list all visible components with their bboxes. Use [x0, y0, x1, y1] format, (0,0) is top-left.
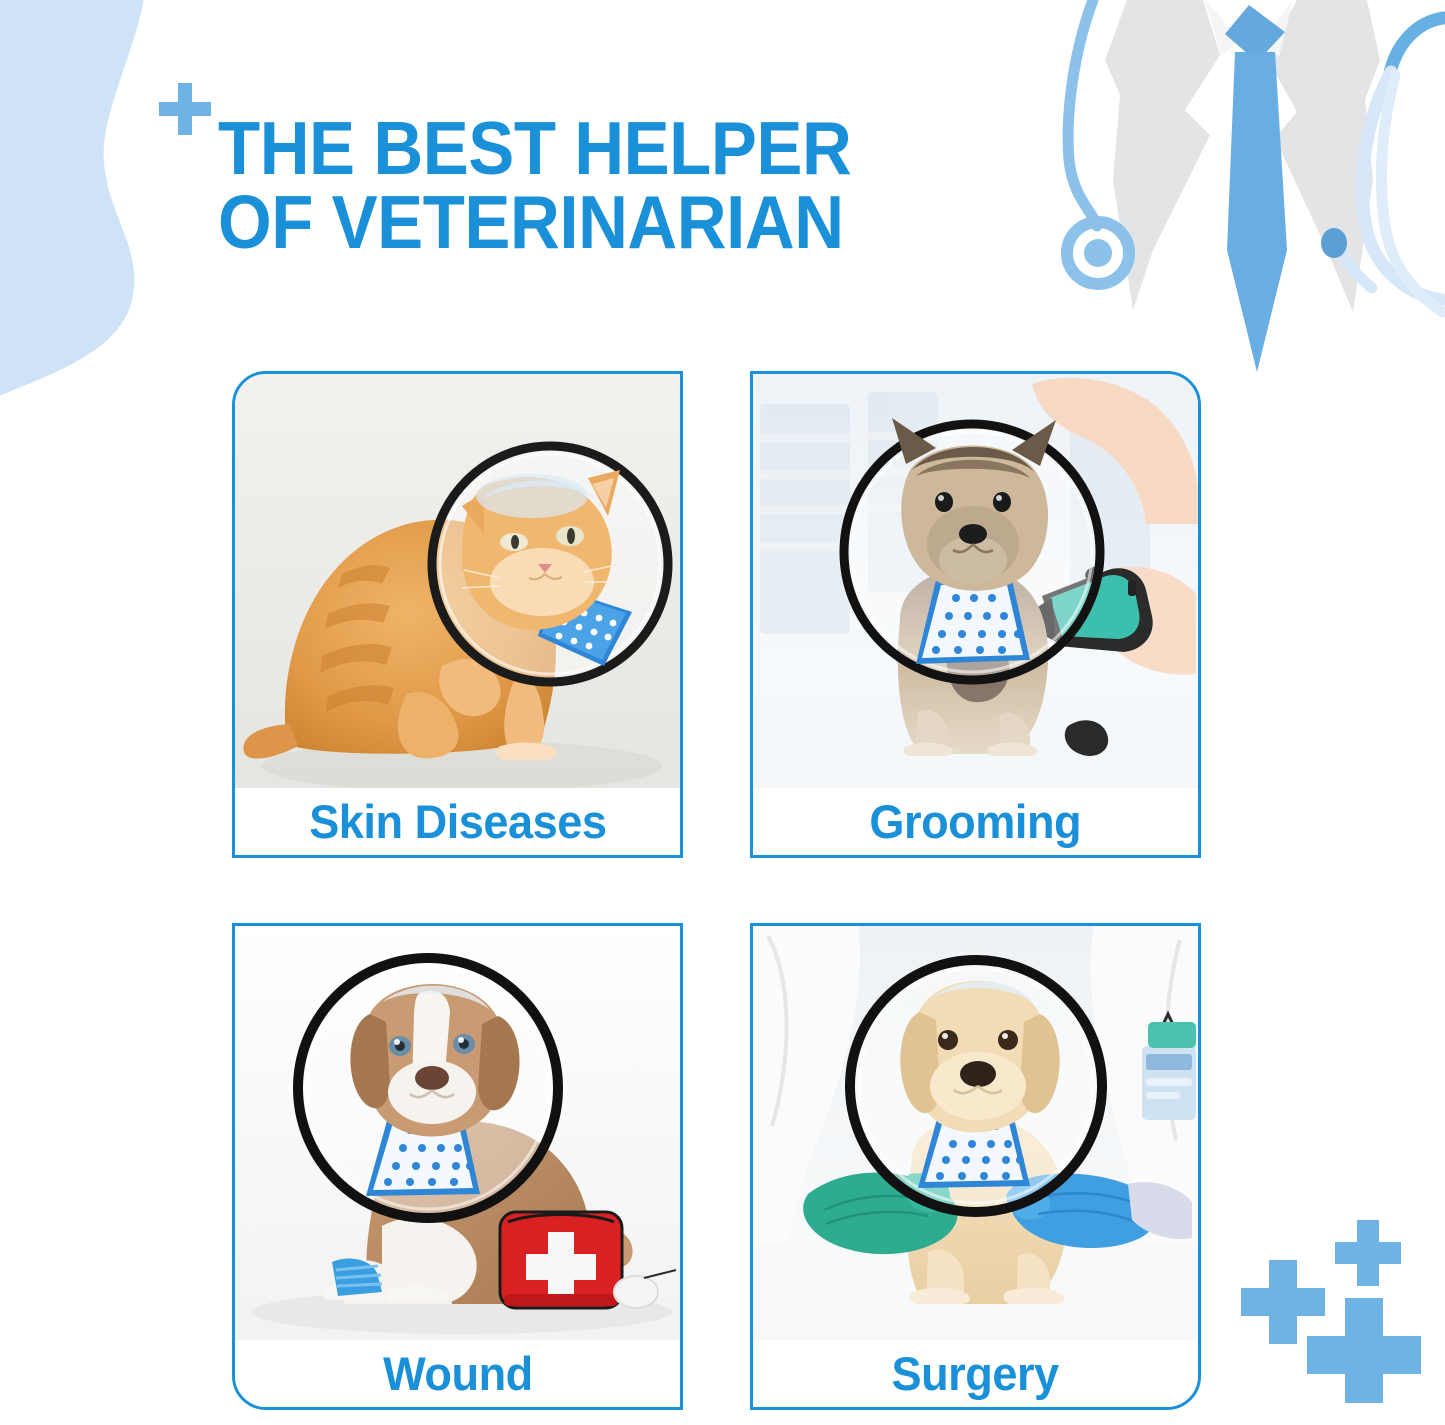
card-label-surgery: Surgery [892, 1346, 1059, 1401]
title-line-2: OF VETERINARIAN [218, 186, 1009, 260]
feature-card-grid: Skin Diseases [232, 371, 1210, 1408]
photo-grooming [753, 374, 1198, 788]
card-caption: Surgery [753, 1340, 1198, 1407]
card-label-skin-diseases: Skin Diseases [309, 794, 606, 849]
feature-card-grooming[interactable]: Grooming [750, 371, 1201, 858]
card-label-wound: Wound [383, 1346, 533, 1401]
title-line-1: THE BEST HELPER [218, 112, 1009, 186]
card-caption: Grooming [753, 788, 1198, 855]
blue-blob-shape [0, 0, 200, 460]
medical-cross-sparkles [1237, 1218, 1427, 1403]
doctor-coat-illustration [1035, 0, 1445, 400]
photo-surgery [753, 926, 1198, 1340]
feature-card-surgery[interactable]: Surgery [750, 923, 1201, 1410]
plus-icon [159, 83, 211, 135]
card-caption: Skin Diseases [235, 788, 680, 855]
poster-canvas: THE BEST HELPER OF VETERINARIAN [0, 0, 1445, 1425]
photo-skin-diseases [235, 374, 680, 788]
page-title: THE BEST HELPER OF VETERINARIAN [218, 112, 1078, 259]
feature-card-wound[interactable]: Wound [232, 923, 683, 1410]
photo-wound [235, 926, 680, 1340]
card-caption: Wound [235, 1340, 680, 1407]
feature-card-skin-diseases[interactable]: Skin Diseases [232, 371, 683, 858]
card-label-grooming: Grooming [870, 794, 1082, 849]
